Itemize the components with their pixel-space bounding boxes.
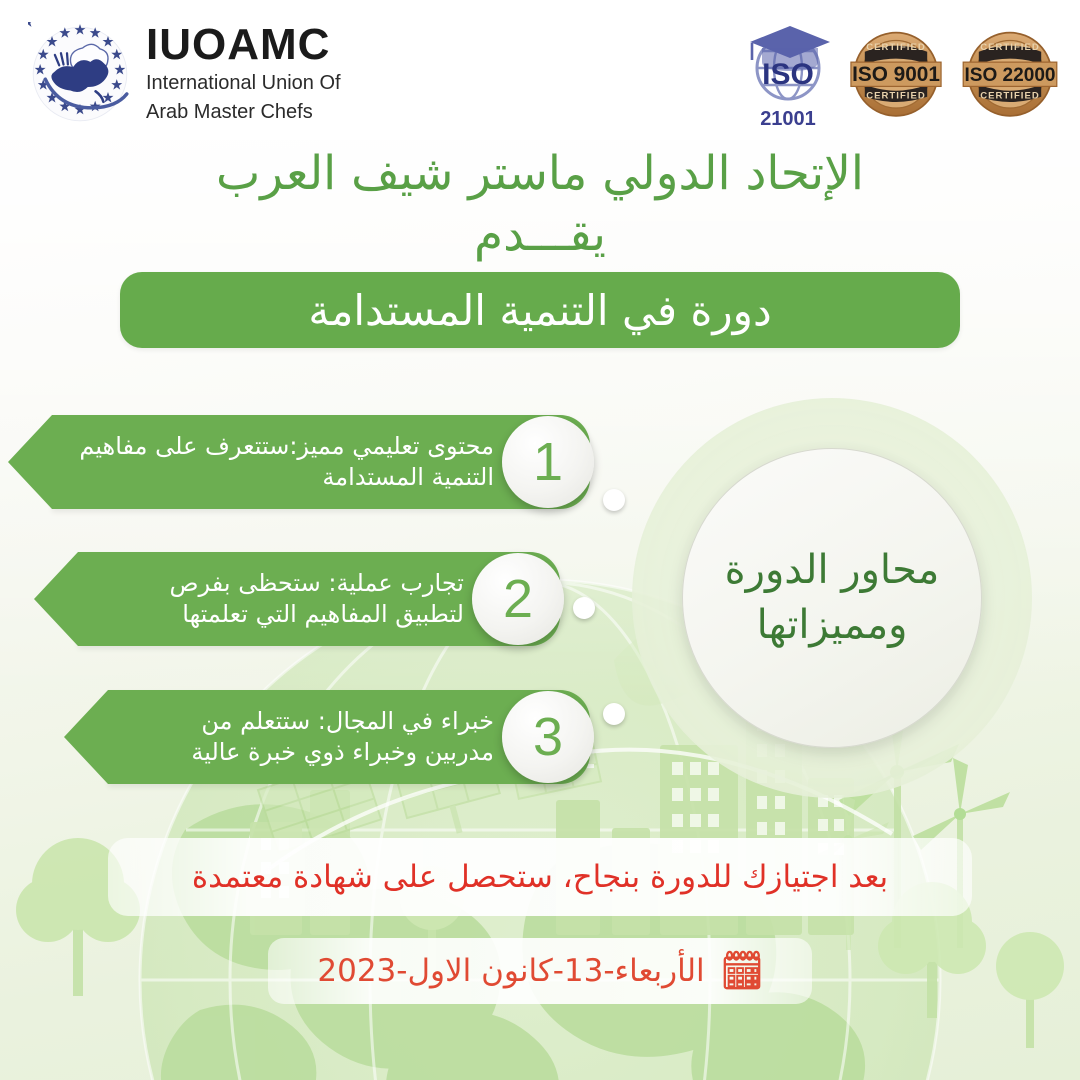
iso-21001-graduation-icon: ISO — [742, 22, 834, 110]
svg-text:CERTIFIED: CERTIFIED — [866, 42, 926, 53]
certificate-note-strip: بعد اجتيازك للدورة بنجاح، ستحصل على شهاد… — [108, 838, 972, 916]
feature-text-3: خبراء في المجال: ستتعلم من مدربين وخبراء… — [134, 706, 494, 768]
organization-logo: IUOAMC International Union Of Arab Maste… — [28, 22, 341, 126]
feature-row-3: خبراء في المجال: ستتعلم من مدربين وخبراء… — [108, 690, 590, 784]
certificate-note-text: بعد اجتيازك للدورة بنجاح، ستحصل على شهاد… — [192, 859, 888, 895]
badge-iso-21001: ISO 21001 — [742, 22, 834, 130]
svg-text:ISO: ISO — [762, 58, 814, 91]
logo-acronym: IUOAMC — [146, 23, 341, 67]
section-circle-line1: محاور الدورة — [725, 543, 940, 598]
section-circle: محاور الدورة ومميزاتها — [682, 448, 982, 748]
badge-iso-22000: CERTIFIED CERTIFIED ISO 22000 — [958, 24, 1062, 128]
logo-name-line1: International Union Of — [146, 70, 341, 96]
feature-text-1: محتوى تعليمي مميز:ستتعرف على مفاهيم التن… — [78, 431, 494, 493]
course-title-text: دورة في التنمية المستدامة — [308, 286, 771, 335]
iso-21001-number: 21001 — [742, 108, 834, 131]
connector-dot-3 — [603, 703, 625, 725]
section-circle-line2: ومميزاتها — [757, 598, 908, 653]
feature-tag-1: محتوى تعليمي مميز:ستتعرف على مفاهيم التن… — [52, 415, 590, 509]
page-title: الإتحاد الدولي ماستر شيف العرب يقـــدم — [0, 143, 1080, 265]
feature-number-badge-1: 1 — [502, 416, 594, 508]
logo-name-line2: Arab Master Chefs — [146, 99, 341, 125]
feature-row-1: محتوى تعليمي مميز:ستتعرف على مفاهيم التن… — [52, 415, 590, 509]
certification-badges: ISO 21001 CERTIFIED CERTIFIED ISO — [742, 22, 1062, 130]
arab-chefs-emblem-icon — [28, 22, 132, 126]
poster-canvas: IUOAMC International Union Of Arab Maste… — [0, 0, 1080, 1080]
connector-dot-1 — [603, 489, 625, 511]
feature-tag-3: خبراء في المجال: ستتعلم من مدربين وخبراء… — [108, 690, 590, 784]
feature-text-2: تجارب عملية: ستحظى بفرص لتطبيق المفاهيم … — [104, 568, 464, 630]
feature-number-2: 2 — [503, 572, 533, 626]
poster-header: IUOAMC International Union Of Arab Maste… — [0, 0, 1080, 140]
course-date-strip: الأربعاء-13-كانون الاول-2023 — [268, 938, 812, 1004]
calendar-icon — [721, 950, 763, 992]
badge-iso-9001: CERTIFIED CERTIFIED ISO 9001 — [844, 24, 948, 128]
feature-number-badge-3: 3 — [502, 691, 594, 783]
headline-line2: يقـــدم — [0, 204, 1080, 265]
course-date-text: الأربعاء-13-كانون الاول-2023 — [317, 953, 704, 989]
svg-text:CERTIFIED: CERTIFIED — [980, 91, 1040, 102]
course-title-banner: دورة في التنمية المستدامة — [120, 272, 960, 348]
feature-number-1: 1 — [533, 435, 563, 489]
headline-line1: الإتحاد الدولي ماستر شيف العرب — [216, 146, 864, 201]
feature-row-2: تجارب عملية: ستحظى بفرص لتطبيق المفاهيم … — [78, 552, 560, 646]
feature-tag-2: تجارب عملية: ستحظى بفرص لتطبيق المفاهيم … — [78, 552, 560, 646]
svg-text:CERTIFIED: CERTIFIED — [980, 42, 1040, 53]
iso-9001-label: ISO 9001 — [852, 63, 940, 86]
connector-dot-2 — [573, 597, 595, 619]
iso-22000-label: ISO 22000 — [964, 65, 1055, 86]
feature-number-3: 3 — [533, 710, 563, 764]
feature-number-badge-2: 2 — [472, 553, 564, 645]
svg-text:CERTIFIED: CERTIFIED — [866, 91, 926, 102]
